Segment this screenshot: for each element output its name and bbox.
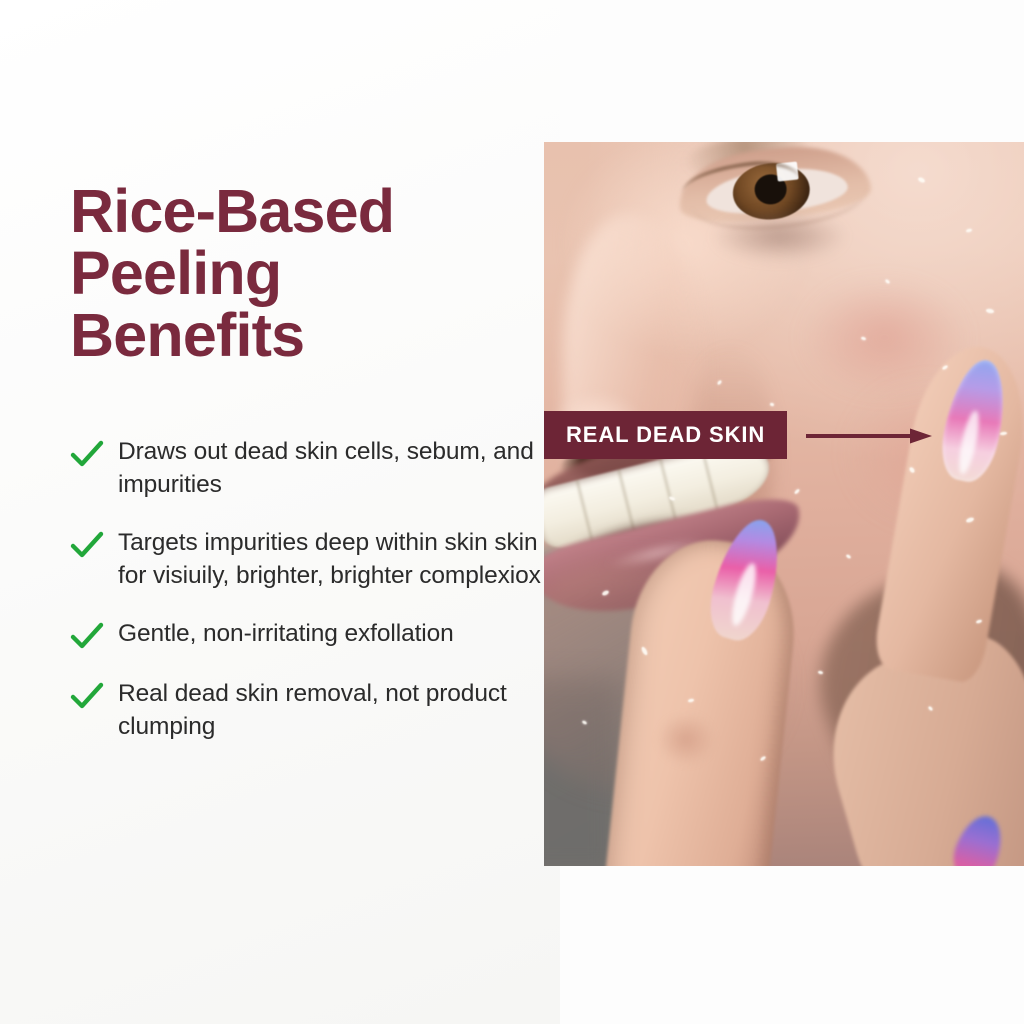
callout-arrow-icon bbox=[806, 428, 932, 444]
benefits-list: Draws out dead skin cells, sebum, and im… bbox=[70, 436, 550, 769]
skin-flake bbox=[846, 554, 852, 559]
page-title: Rice-Based Peeling Benefits bbox=[70, 180, 540, 367]
product-demo-photo bbox=[544, 142, 1024, 866]
photo-face-illustration bbox=[544, 142, 1024, 866]
benefit-text: Gentle, non-irritating exfollation bbox=[118, 618, 454, 651]
list-item: Real dead skin removal, not product clum… bbox=[70, 678, 550, 743]
list-item: Gentle, non-irritating exfollation bbox=[70, 618, 550, 652]
content-column: Rice-Based Peeling Benefits Draws out de… bbox=[70, 180, 540, 367]
check-icon bbox=[70, 622, 104, 652]
poster-canvas: Rice-Based Peeling Benefits Draws out de… bbox=[0, 0, 1024, 1024]
benefit-text: Draws out dead skin cells, sebum, and im… bbox=[118, 436, 550, 501]
callout-label: REAL DEAD SKIN bbox=[566, 422, 765, 448]
skin-flake bbox=[769, 402, 774, 406]
check-icon bbox=[70, 682, 104, 712]
skin-flake bbox=[918, 177, 926, 184]
benefit-text: Targets impurities deep within skin skin… bbox=[118, 527, 550, 592]
list-item: Draws out dead skin cells, sebum, and im… bbox=[70, 436, 550, 501]
check-icon bbox=[70, 440, 104, 470]
benefit-text: Real dead skin removal, not product clum… bbox=[118, 678, 550, 743]
list-item: Targets impurities deep within skin skin… bbox=[70, 527, 550, 592]
knuckle-shadow bbox=[650, 707, 722, 772]
check-icon bbox=[70, 531, 104, 561]
skin-flake bbox=[817, 670, 823, 674]
callout-badge: REAL DEAD SKIN bbox=[544, 411, 787, 459]
skin-flake bbox=[966, 228, 973, 232]
